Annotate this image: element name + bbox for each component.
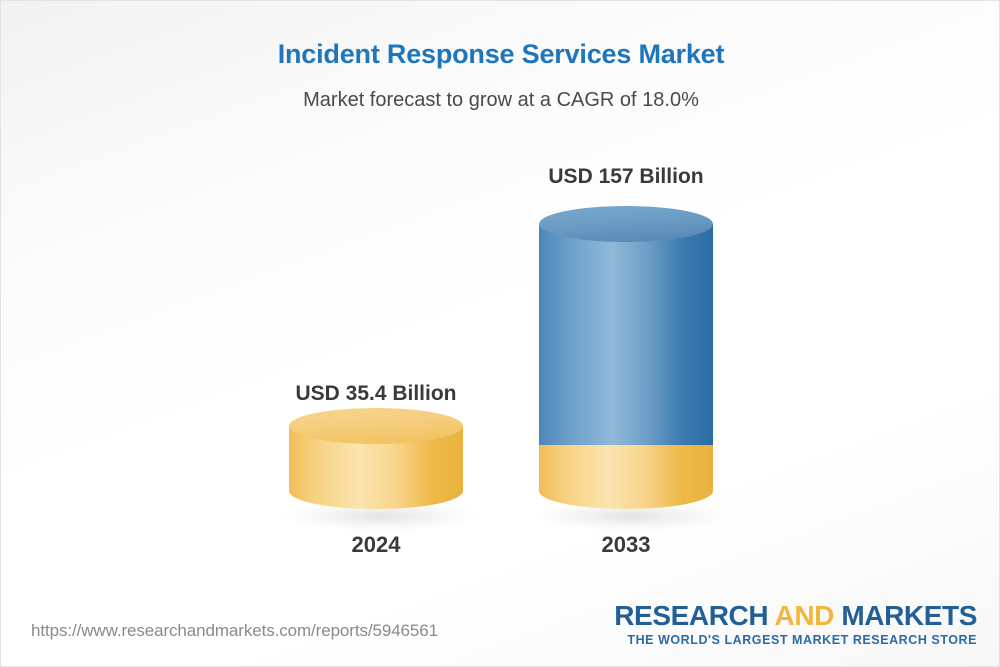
- bar-2033: [531, 206, 731, 532]
- plot-area: USD 35.4 Billion USD 157 Billion 2024 20…: [1, 1, 1000, 601]
- source-url[interactable]: https://www.researchandmarkets.com/repor…: [31, 621, 438, 641]
- value-label-2024: USD 35.4 Billion: [289, 382, 463, 406]
- bar-2024: [281, 408, 481, 532]
- value-label-2033: USD 157 Billion: [539, 165, 713, 189]
- logo-tagline: THE WORLD'S LARGEST MARKET RESEARCH STOR…: [614, 633, 977, 647]
- logo-word-markets: MARKETS: [834, 600, 977, 631]
- logo-wordmark: RESEARCH AND MARKETS: [614, 601, 977, 630]
- cylinder-bars: [1, 1, 1000, 601]
- logo-word-and: AND: [775, 600, 834, 631]
- research-and-markets-logo: RESEARCH AND MARKETS THE WORLD'S LARGEST…: [614, 601, 977, 647]
- category-label-2024: 2024: [289, 532, 463, 558]
- category-label-2033: 2033: [539, 532, 713, 558]
- logo-word-research: RESEARCH: [614, 600, 774, 631]
- chart-canvas: Incident Response Services Market Market…: [0, 0, 1000, 667]
